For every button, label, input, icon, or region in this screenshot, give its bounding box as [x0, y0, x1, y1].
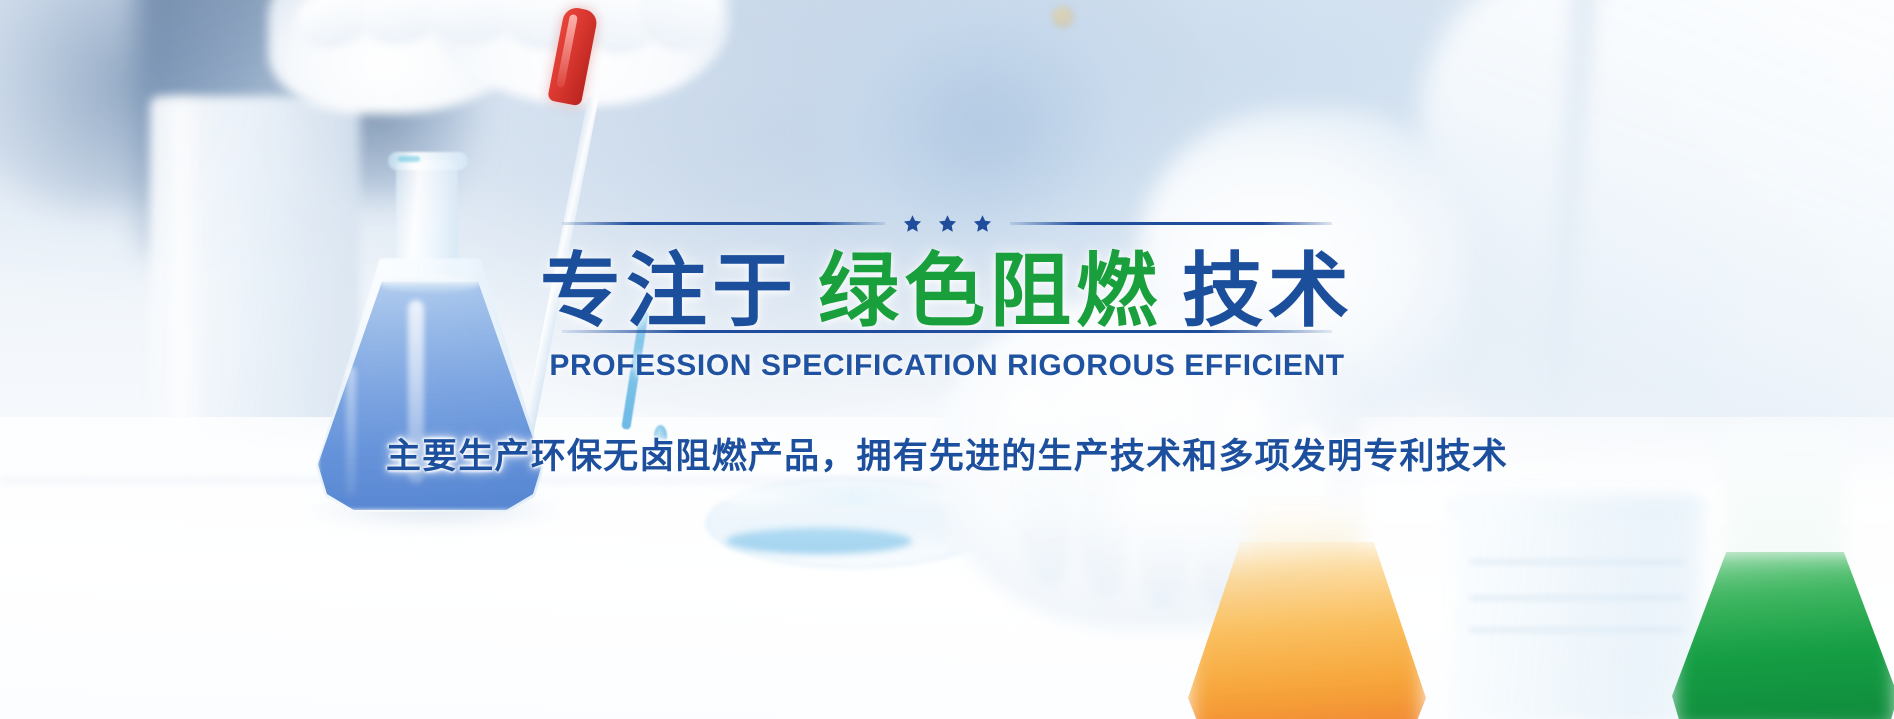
- page-title: 专注于绿色阻燃技术: [540, 248, 1354, 337]
- star-icon: [903, 214, 922, 233]
- headline-part-1: 专注于: [540, 247, 798, 337]
- tagline: 主要生产环保无卤阻燃产品，拥有先进的生产技术和多项发明专利技术: [386, 428, 1508, 479]
- star-icon: [973, 214, 992, 233]
- divider-rule-right: [1010, 222, 1333, 225]
- star-group: [903, 214, 992, 233]
- decorative-divider-bottom: [562, 330, 1332, 333]
- banner-content: 专注于绿色阻燃技术 PROFESSION SPECIFICATION RIGOR…: [0, 0, 1894, 719]
- star-icon: [938, 214, 957, 233]
- subtitle-english: PROFESSION SPECIFICATION RIGOROUS EFFICI…: [549, 349, 1344, 383]
- divider-rule-left: [562, 222, 885, 225]
- hero-banner: 专注于绿色阻燃技术 PROFESSION SPECIFICATION RIGOR…: [0, 0, 1894, 719]
- headline-part-3: 技术: [1182, 247, 1354, 337]
- decorative-divider-top: [562, 214, 1332, 233]
- headline-part-2: 绿色阻燃: [818, 247, 1162, 337]
